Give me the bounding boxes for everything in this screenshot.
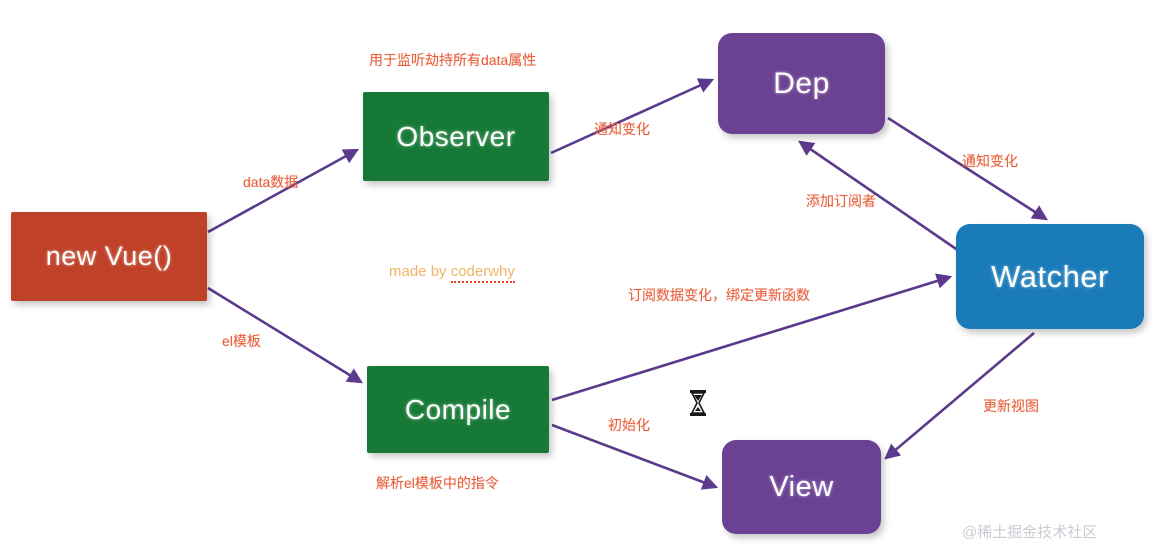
busy-hourglass-icon (688, 390, 708, 420)
made-by-prefix: made by (389, 263, 451, 280)
node-label-view: View (769, 473, 833, 502)
node-label-compile: Compile (405, 396, 511, 424)
node-observer[interactable]: Observer (363, 92, 549, 181)
edge-observer-to-dep (551, 80, 712, 153)
made-by-watermark: made by coderwhy (389, 263, 515, 280)
node-label-watcher: Watcher (991, 261, 1109, 292)
node-watcher[interactable]: Watcher (956, 224, 1144, 329)
node-dep[interactable]: Dep (718, 33, 885, 134)
site-watermark: @稀土掘金技术社区 (962, 521, 1097, 542)
node-label-observer: Observer (396, 123, 515, 151)
node-compile[interactable]: Compile (367, 366, 549, 453)
edge-label-watcher-to-view: 更新视图 (983, 396, 1039, 416)
edge-label-observer-to-dep: 通知变化 (594, 119, 650, 139)
edge-label-vue-to-observer: data数据 (243, 172, 298, 192)
edge-label-dep-to-watcher: 通知变化 (962, 151, 1018, 171)
made-by-author: coderwhy (451, 263, 515, 283)
edge-label-vue-to-compile: el模板 (222, 331, 261, 351)
annotation-observer-note: 用于监听劫持所有data属性 (369, 50, 536, 70)
diagram-canvas: new Vue()ObserverCompileDepWatcherView d… (0, 0, 1168, 556)
edge-label-compile-to-view: 初始化 (608, 415, 650, 435)
node-view[interactable]: View (722, 440, 881, 534)
edge-label-compile-to-watcher: 订阅数据变化，绑定更新函数 (628, 285, 810, 305)
node-label-new-vue: new Vue() (46, 243, 173, 270)
edge-label-watcher-to-dep: 添加订阅者 (806, 191, 876, 211)
node-new-vue[interactable]: new Vue() (11, 212, 207, 301)
annotation-compile-note: 解析el模板中的指令 (376, 473, 499, 493)
node-label-dep: Dep (773, 69, 830, 99)
